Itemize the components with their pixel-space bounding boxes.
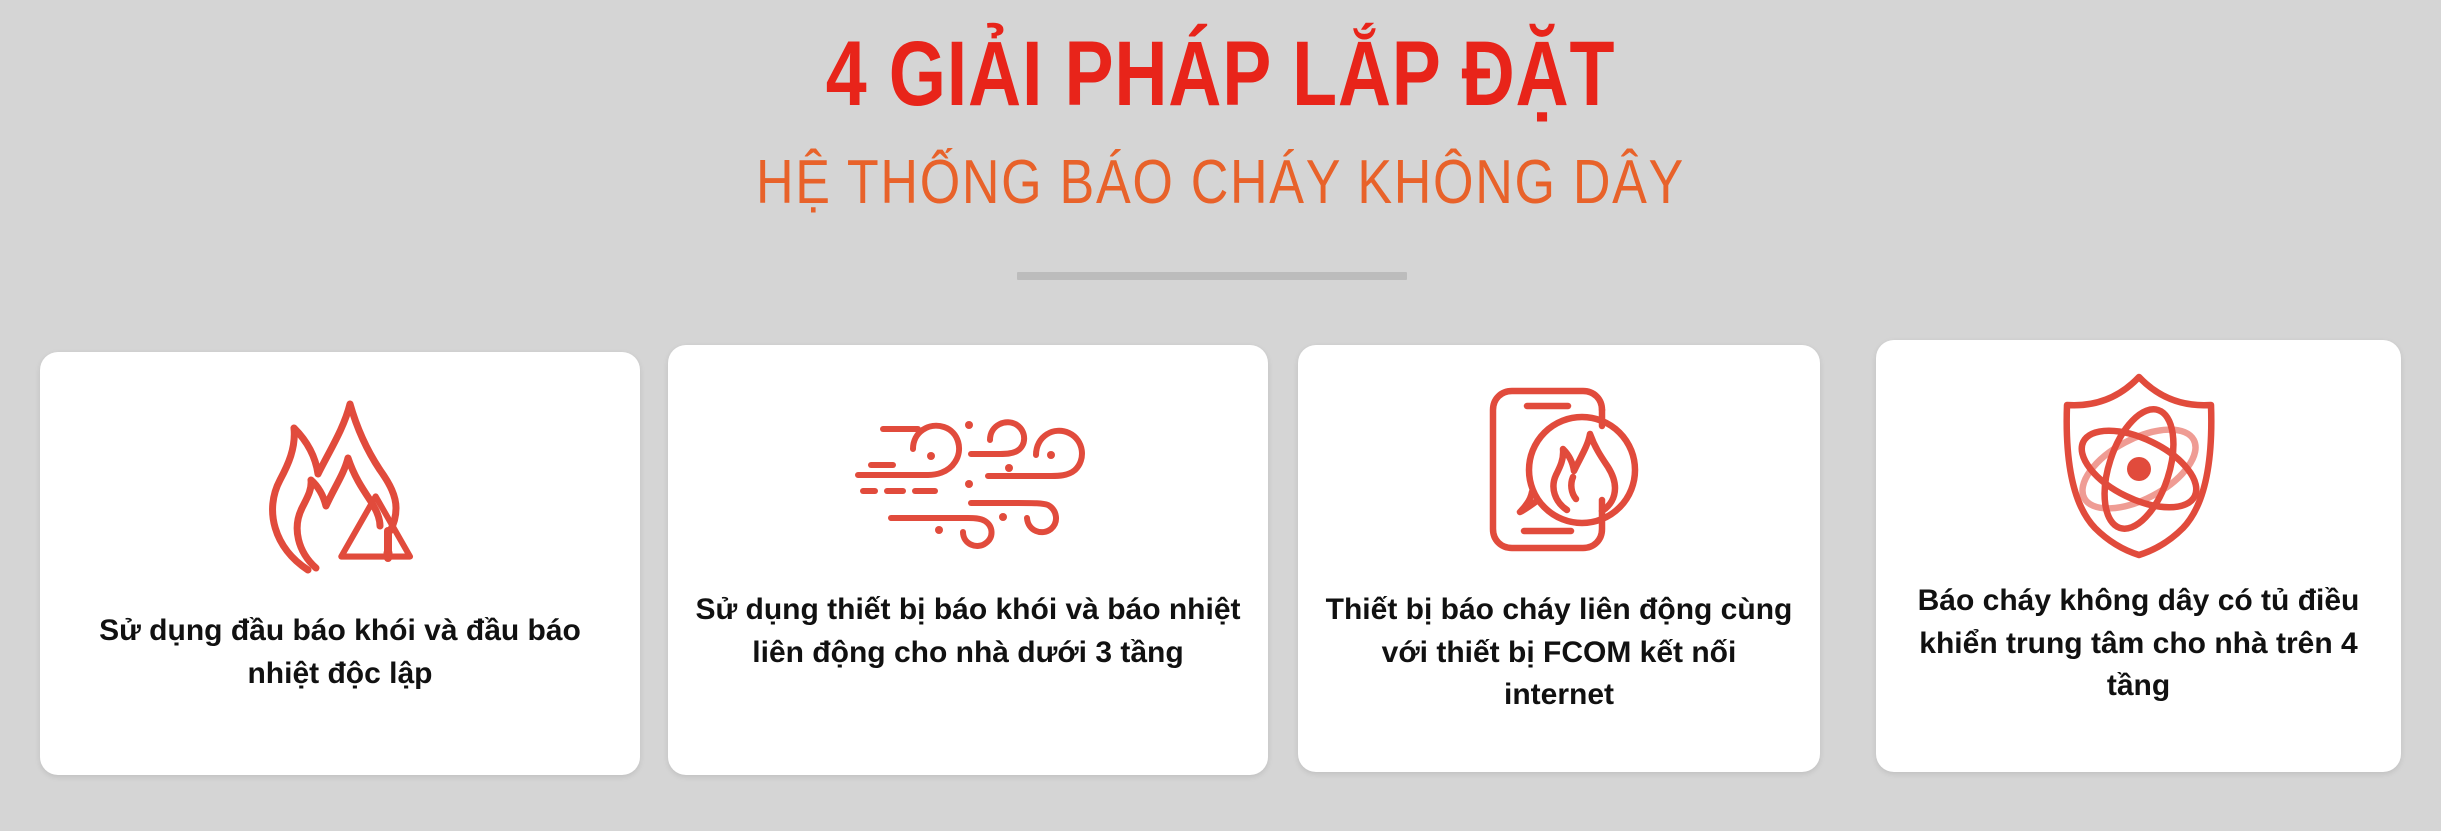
solution-card-1-caption: Sử dụng đầu báo khói và đầu báo nhiệt độ… bbox=[40, 610, 640, 695]
flame-warning-icon bbox=[40, 352, 640, 588]
solution-card-4[interactable]: Báo cháy không dây có tủ điều khiển trun… bbox=[1876, 340, 2401, 772]
solution-card-3-caption: Thiết bị báo cháy liên động cùng với thi… bbox=[1298, 589, 1820, 717]
smoke-wind-icon bbox=[668, 345, 1268, 575]
solution-card-1[interactable]: Sử dụng đầu báo khói và đầu báo nhiệt độ… bbox=[40, 352, 640, 775]
shield-atom-icon bbox=[1876, 340, 2401, 562]
solution-card-2-caption: Sử dụng thiết bị báo khói và báo nhiệt l… bbox=[668, 589, 1268, 674]
solution-card-2[interactable]: Sử dụng thiết bị báo khói và báo nhiệt l… bbox=[668, 345, 1268, 775]
solution-card-3[interactable]: Thiết bị báo cháy liên động cùng với thi… bbox=[1298, 345, 1820, 772]
solution-card-4-caption: Báo cháy không dây có tủ điều khiển trun… bbox=[1876, 580, 2401, 708]
solution-cards-row: Sử dụng đầu báo khói và đầu báo nhiệt độ… bbox=[0, 0, 2441, 831]
smartphone-fire-alert-icon bbox=[1298, 345, 1820, 569]
